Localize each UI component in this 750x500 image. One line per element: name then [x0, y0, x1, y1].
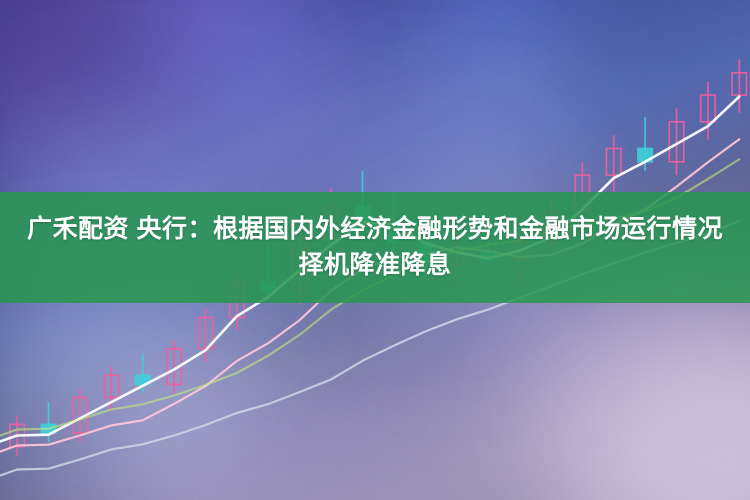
headline-line-2: 择机降准降息	[298, 251, 451, 281]
headline-line-1: 广禾配资 央行：根据国内外经济金融形势和金融市场运行情况	[27, 215, 723, 245]
promo-banner: 广禾配资 央行：根据国内外经济金融形势和金融市场运行情况 择机降准降息	[0, 0, 750, 500]
headline-band: 广禾配资 央行：根据国内外经济金融形势和金融市场运行情况 择机降准降息	[0, 192, 750, 303]
